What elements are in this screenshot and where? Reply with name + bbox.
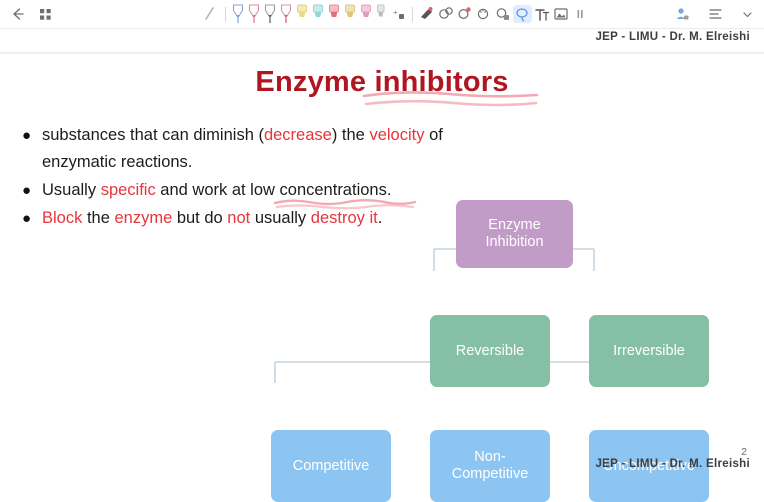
highlighter-gold[interactable] [343, 3, 357, 25]
back-arrow-icon[interactable] [10, 7, 25, 21]
page-number: 2 [741, 446, 747, 458]
pen-tool-crimson[interactable] [279, 3, 293, 25]
user-presence-icon[interactable] [674, 6, 690, 22]
menu-list-icon[interactable] [708, 7, 723, 21]
page-title: Enzyme inhibitors [0, 66, 764, 99]
shape-circle-icon[interactable] [437, 5, 454, 23]
pen-tool-red[interactable] [247, 3, 261, 25]
add-page-icon[interactable]: + [392, 5, 407, 23]
slide-canvas[interactable]: Enzyme inhibitors ● substances that can … [0, 54, 764, 480]
diagram-node-competitive-label: Competitive [293, 458, 370, 475]
shape-balloon-icon[interactable] [456, 5, 473, 23]
grid-thumbnails-icon[interactable] [39, 8, 52, 21]
diagram-node-irreversible-label: Irreversible [613, 343, 685, 360]
toolbar-left-group [0, 7, 52, 21]
diagram-node-reversible[interactable]: Reversible [430, 315, 550, 387]
slide-header-course-label: JEP - LIMU - Dr. M. Elreishi [595, 31, 750, 43]
toolbar-tools-group: + [202, 0, 585, 28]
screen: + [0, 0, 764, 480]
text-tool-icon[interactable] [534, 6, 551, 22]
enzyme-inhibition-diagram: EnzymeInhibition Reversible Irreversible… [255, 134, 755, 474]
diagram-node-competitive[interactable]: Competitive [271, 430, 391, 502]
lasso-select-icon[interactable] [513, 5, 532, 23]
slide-footer-course-label: JEP - LIMU - Dr. M. Elreishi [595, 458, 750, 470]
highlighter-cyan[interactable] [311, 3, 325, 25]
highlighter-grey[interactable] [375, 3, 387, 25]
annotation-toolbar: + [0, 0, 764, 28]
toolbar-divider [225, 7, 226, 22]
eraser-icon[interactable] [418, 5, 435, 23]
bullet-marker: ● [22, 177, 42, 204]
diagram-node-noncompetitive-label: Non-Competitive [452, 449, 529, 483]
highlighter-yellow[interactable] [295, 3, 309, 25]
stamp-icon[interactable] [475, 5, 492, 23]
diagram-node-irreversible[interactable]: Irreversible [589, 315, 709, 387]
diagram-node-reversible-label: Reversible [456, 343, 525, 360]
chevron-down-icon[interactable] [741, 8, 754, 21]
pause-icon[interactable] [575, 7, 585, 21]
diagram-node-root-label: EnzymeInhibition [485, 217, 543, 251]
highlighter-red[interactable] [327, 3, 341, 25]
bullet-marker: ● [22, 205, 42, 232]
bullet-marker: ● [22, 122, 42, 149]
pencil-tool[interactable] [202, 5, 218, 23]
diagram-node-noncompetitive[interactable]: Non-Competitive [430, 430, 550, 502]
sticker-icon[interactable] [494, 5, 511, 23]
diagram-node-root[interactable]: EnzymeInhibition [456, 200, 573, 268]
toolbar-right-group [674, 0, 754, 28]
toolbar-divider-2 [412, 7, 413, 22]
pen-tool-blue[interactable] [231, 3, 245, 25]
svg-text:+: + [393, 8, 398, 17]
pen-tool-black[interactable] [263, 3, 277, 25]
insert-image-icon[interactable] [553, 6, 569, 22]
highlighter-pink[interactable] [359, 3, 373, 25]
diagram-connectors [255, 134, 755, 474]
